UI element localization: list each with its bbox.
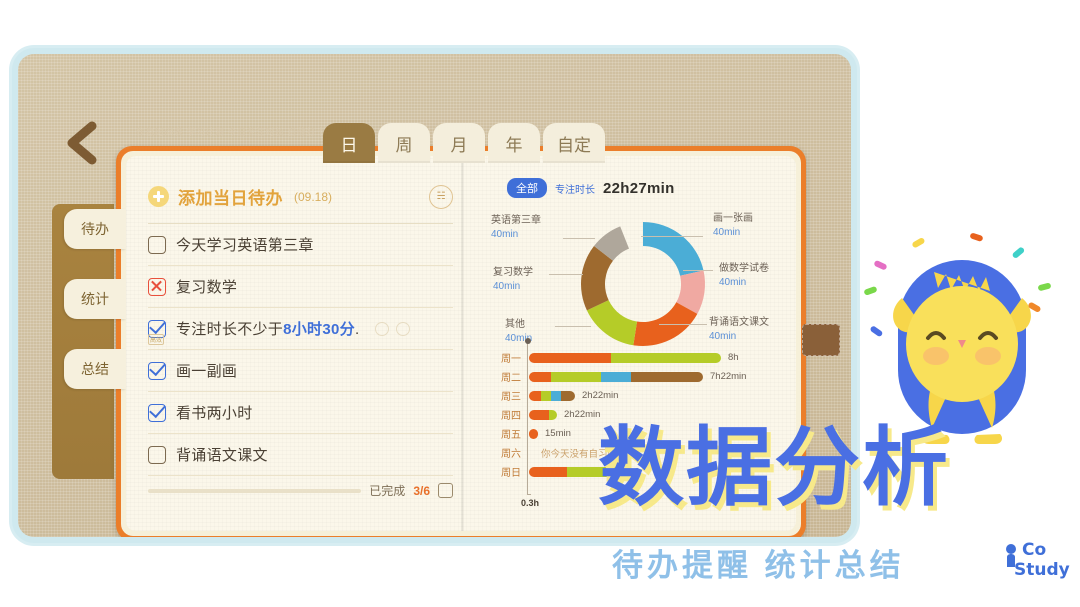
todo-item-highlight: 8小时30分 bbox=[283, 321, 355, 338]
donut-label-name: 背诵语文课文 bbox=[709, 316, 769, 330]
bar-day-label: 周日 bbox=[481, 464, 529, 479]
donut-label-value: 40min bbox=[713, 226, 753, 240]
bar-segment bbox=[551, 372, 601, 382]
donut-label-value: 40min bbox=[493, 280, 533, 294]
donut-label-value: 40min bbox=[709, 330, 769, 344]
add-todo-label[interactable]: 添加当日待办 bbox=[178, 184, 283, 209]
bar-segment bbox=[529, 372, 551, 382]
focus-duration-value: 22h27min bbox=[603, 180, 675, 197]
todo-item-label: 画一副画 bbox=[176, 360, 237, 381]
stats-header: 全部 专注时长 22h27min bbox=[491, 178, 782, 198]
book-clasp[interactable] bbox=[802, 324, 840, 356]
bar-segment bbox=[529, 429, 538, 439]
bar-value-label: 2h22min bbox=[564, 409, 600, 420]
axis-base-tick bbox=[527, 494, 531, 495]
donut-chart: 画一张画40min做数学试卷40min背诵语文课文40min其他40min复习数… bbox=[491, 200, 782, 370]
todo-item-label: 今天学习英语第三章 bbox=[176, 234, 314, 255]
bar-segment bbox=[529, 410, 549, 420]
logo-line1: Co bbox=[1022, 540, 1046, 560]
sidebar-item-summary[interactable]: 总结 bbox=[64, 349, 126, 389]
bar-segment bbox=[529, 391, 541, 401]
donut-label: 复习数学40min bbox=[493, 266, 533, 294]
sidebar-tabs: 待办 统计 总结 bbox=[52, 209, 120, 419]
bar-day-label: 周一 bbox=[481, 350, 529, 365]
axis-tick-label: 0.3h bbox=[521, 498, 539, 508]
donut-leader-line bbox=[555, 326, 591, 327]
repeat-icon[interactable] bbox=[375, 322, 389, 336]
bar-value-label: 8h bbox=[728, 352, 739, 363]
period-tabs: 日 周 月 年 自定 bbox=[323, 123, 605, 163]
donut-segment bbox=[643, 222, 704, 276]
todo-item[interactable]: 今天学习英语第三章 bbox=[148, 224, 453, 266]
bar-day-label: 周四 bbox=[481, 407, 529, 422]
promo-title: 数据分析 bbox=[598, 422, 950, 514]
todo-item-label: 专注时长不少于8小时30分. bbox=[176, 318, 359, 339]
tab-year[interactable]: 年 bbox=[488, 123, 540, 163]
focus-duration-label: 专注时长 bbox=[555, 181, 595, 196]
todo-date: (09.18) bbox=[294, 190, 332, 204]
app-logo: Co Study bbox=[1000, 533, 1072, 585]
todo-item[interactable]: 高效 专注时长不少于8小时30分. bbox=[148, 308, 453, 350]
donut-leader-line bbox=[659, 324, 707, 325]
bar-value-label: 7h22min bbox=[710, 371, 746, 382]
donut-label-value: 40min bbox=[491, 228, 541, 242]
todo-item[interactable]: 复习数学 bbox=[148, 266, 453, 308]
checkbox-checked[interactable] bbox=[148, 362, 166, 380]
bar-day-label: 周三 bbox=[481, 388, 529, 403]
todo-tag: 高效 bbox=[148, 334, 164, 345]
bar-day-label: 周五 bbox=[481, 426, 529, 441]
sidebar-item-todo[interactable]: 待办 bbox=[64, 209, 126, 249]
todo-item-label: 背诵语文课文 bbox=[176, 444, 268, 465]
tab-month[interactable]: 月 bbox=[433, 123, 485, 163]
bar-segment bbox=[549, 410, 557, 420]
todo-item[interactable]: 背诵语文课文 bbox=[148, 434, 453, 476]
tab-day[interactable]: 日 bbox=[323, 123, 375, 163]
todo-item[interactable]: 画一副画 bbox=[148, 350, 453, 392]
todo-item-icons bbox=[375, 322, 410, 336]
bar-segment bbox=[601, 372, 631, 382]
donut-leader-line bbox=[641, 236, 703, 237]
logo-line2: Study bbox=[1014, 560, 1070, 580]
bar-chart-axis bbox=[527, 342, 528, 494]
tab-week[interactable]: 周 bbox=[378, 123, 430, 163]
donut-label: 画一张画40min bbox=[713, 212, 753, 240]
todo-header: 添加当日待办 (09.18) ☵ bbox=[148, 184, 453, 224]
donut-label-name: 复习数学 bbox=[493, 266, 533, 280]
bar-track bbox=[529, 429, 538, 439]
todo-footer: 已完成 3/6 bbox=[148, 482, 453, 499]
alarm-icon[interactable] bbox=[396, 322, 410, 336]
plus-icon[interactable] bbox=[148, 186, 169, 207]
donut-label-value: 40min bbox=[719, 276, 769, 290]
bar-track bbox=[529, 353, 721, 363]
bar-day-label: 周二 bbox=[481, 369, 529, 384]
donut-label: 背诵语文课文40min bbox=[709, 316, 769, 344]
calendar-people-icon[interactable]: ☵ bbox=[429, 185, 453, 209]
filter-all-badge[interactable]: 全部 bbox=[507, 178, 547, 198]
bar-track bbox=[529, 391, 575, 401]
bar-chart-row: 周一8h bbox=[481, 348, 781, 367]
bar-value-label: 15min bbox=[545, 428, 571, 439]
promo-subtitle: 待办提醒 统计总结 bbox=[612, 548, 905, 584]
export-icon[interactable] bbox=[438, 483, 453, 498]
todo-item-label: 复习数学 bbox=[176, 276, 237, 297]
bar-segment bbox=[561, 391, 575, 401]
progress-bar bbox=[148, 489, 361, 493]
bar-chart-row: 周三2h22min bbox=[481, 386, 781, 405]
donut-leader-line bbox=[549, 274, 583, 275]
bar-segment bbox=[631, 372, 703, 382]
bar-segment bbox=[529, 467, 567, 477]
bar-value-label: 2h22min bbox=[582, 390, 618, 401]
bar-segment bbox=[611, 353, 721, 363]
done-label: 已完成 bbox=[369, 482, 405, 499]
checkbox-unchecked[interactable] bbox=[148, 236, 166, 254]
todo-item-label: 看书两小时 bbox=[176, 402, 253, 423]
bar-segment bbox=[541, 391, 551, 401]
done-count: 3/6 bbox=[413, 484, 430, 498]
bar-track bbox=[529, 372, 703, 382]
donut-label: 英语第三章40min bbox=[491, 214, 541, 242]
bar-segment bbox=[529, 353, 611, 363]
donut-leader-line bbox=[563, 238, 595, 239]
todo-panel: 添加当日待办 (09.18) ☵ 今天学习英语第三章 复习数学 bbox=[126, 156, 471, 531]
tab-custom[interactable]: 自定 bbox=[543, 123, 605, 163]
checkbox-unchecked[interactable] bbox=[148, 446, 166, 464]
donut-leader-line bbox=[683, 270, 713, 271]
bar-day-label: 周六 bbox=[481, 445, 529, 460]
donut-label-name: 画一张画 bbox=[713, 212, 753, 226]
donut-segment bbox=[587, 300, 637, 345]
donut-label-name: 做数学试卷 bbox=[719, 262, 769, 276]
bar-track bbox=[529, 410, 557, 420]
checkbox-checked[interactable] bbox=[148, 404, 166, 422]
back-chevron-icon[interactable] bbox=[60, 120, 102, 166]
donut-label-name: 英语第三章 bbox=[491, 214, 541, 228]
bar-chart-row: 周二7h22min bbox=[481, 367, 781, 386]
bar-segment bbox=[551, 391, 561, 401]
sidebar-item-stats[interactable]: 统计 bbox=[64, 279, 126, 319]
donut-label: 做数学试卷40min bbox=[719, 262, 769, 290]
checkbox-crossed[interactable] bbox=[148, 278, 166, 296]
donut-label-name: 其他 bbox=[505, 318, 532, 332]
todo-item[interactable]: 看书两小时 bbox=[148, 392, 453, 434]
